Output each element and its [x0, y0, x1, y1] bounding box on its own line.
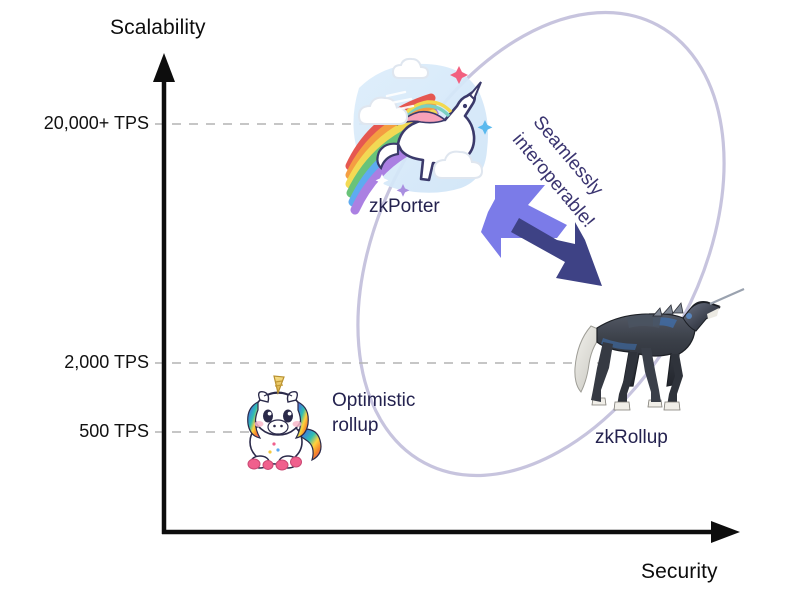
y-tick-label-20000: 20,000+ TPS — [0, 113, 149, 134]
grouping-ellipse — [283, 0, 795, 538]
node-label-zkporter: zkPorter — [369, 196, 440, 218]
optimistic-rollup-illustration — [248, 376, 321, 470]
node-label-optimistic-rollup: Optimistic rollup — [332, 388, 452, 438]
x-axis — [162, 521, 740, 543]
y-axis-title: Scalability — [110, 16, 206, 40]
zkrollup-illustration — [575, 289, 744, 410]
optimistic-label-line1: Optimistic — [332, 388, 452, 413]
optimistic-label-line2: rollup — [332, 413, 452, 438]
y-tick-label-2000: 2,000 TPS — [0, 352, 149, 373]
node-label-zkrollup: zkRollup — [595, 427, 668, 449]
diagram-svg-overlay — [0, 0, 795, 600]
y-tick-label-500: 500 TPS — [0, 421, 149, 442]
x-axis-title: Security — [641, 560, 718, 584]
y-axis — [153, 53, 175, 534]
diagram-canvas: Scalability Security 20,000+ TPS 2,000 T… — [0, 0, 795, 600]
zkporter-illustration — [350, 59, 492, 210]
